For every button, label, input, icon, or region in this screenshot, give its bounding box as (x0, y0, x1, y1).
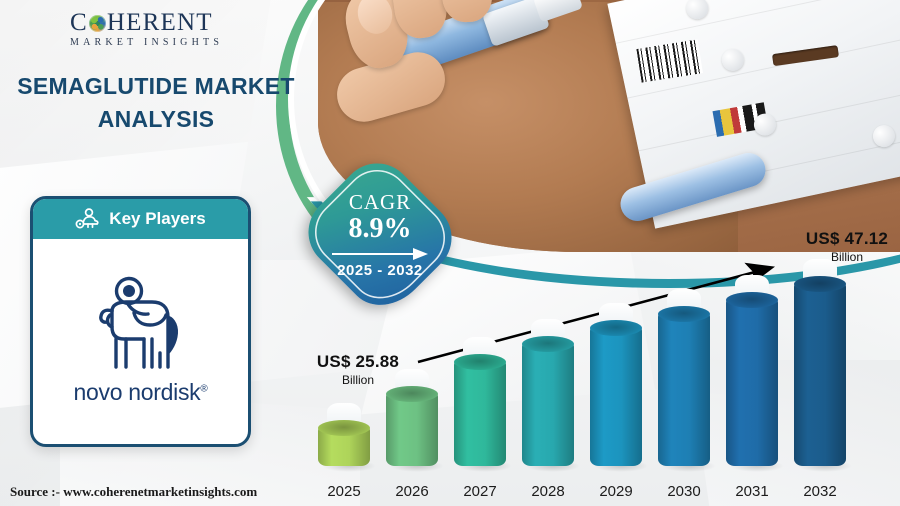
company-name: novo nordisk® (74, 379, 208, 406)
list-item: novo nordisk® (66, 275, 216, 406)
bar-rim (658, 306, 710, 322)
bar-rim (726, 292, 778, 308)
key-players-header: Key Players (33, 199, 248, 239)
bar-rim (522, 336, 574, 352)
source-footer: Source :- www.coherenetmarketinsights.co… (10, 484, 257, 500)
bar-rim (794, 276, 846, 292)
blister-dot (684, 0, 710, 21)
company-name-text: novo nordisk (74, 379, 201, 405)
bar-body (794, 280, 846, 466)
barcode-icon (636, 39, 703, 82)
bar-2026 (386, 380, 438, 466)
logo-wordmark: C HERENT (70, 10, 250, 36)
registered-mark: ® (200, 383, 207, 394)
key-players-body: novo nordisk® (33, 239, 248, 441)
globe-icon (89, 15, 106, 32)
end-value: US$ 47.12 (792, 229, 900, 249)
logo-word-part2: HERENT (107, 10, 213, 36)
bar-chart: US$ 25.88 Billion US$ 47.12 Billion 2025… (300, 262, 900, 506)
axis-label-2030: 2030 (658, 483, 710, 500)
key-players-card: Key Players (30, 196, 251, 447)
right-arrow-icon (332, 248, 428, 260)
bar-rim (386, 386, 438, 402)
axis-label-2027: 2027 (454, 483, 506, 500)
axis-label-2025: 2025 (318, 483, 370, 500)
bar-2025 (318, 414, 370, 466)
logo-word-part1: C (70, 10, 88, 36)
bar-2032 (794, 270, 846, 466)
key-person-icon (75, 208, 101, 230)
start-value: US$ 25.88 (298, 352, 418, 372)
axis-label-2029: 2029 (590, 483, 642, 500)
cagr-value: 8.9% (349, 213, 412, 245)
bar-body (454, 358, 506, 466)
bar-rim (590, 320, 642, 336)
key-players-title: Key Players (109, 209, 205, 229)
bar-2030 (658, 300, 710, 466)
logo-tagline: MARKET INSIGHTS (70, 37, 250, 48)
bar-body (658, 310, 710, 466)
axis-label-2026: 2026 (386, 483, 438, 500)
bar-2031 (726, 286, 778, 466)
infographic-poster: C HERENT MARKET INSIGHTS SEMAGLUTIDE MAR… (0, 0, 900, 506)
cagr-label: CAGR (349, 191, 411, 213)
apis-bull-icon (82, 275, 200, 383)
bar-2027 (454, 348, 506, 466)
bar-2028 (522, 330, 574, 466)
bar-rim (454, 354, 506, 370)
end-value-callout: US$ 47.12 Billion (792, 229, 900, 264)
bar-2029 (590, 314, 642, 466)
company-logo: C HERENT MARKET INSIGHTS (70, 10, 250, 52)
blister-dot (871, 123, 897, 149)
bar-body (726, 296, 778, 466)
axis-label-2032: 2032 (794, 483, 846, 500)
axis-label-2031: 2031 (726, 483, 778, 500)
bar-body (590, 324, 642, 466)
axis-label-2028: 2028 (522, 483, 574, 500)
page-title: SEMAGLUTIDE MARKET ANALYSIS (0, 70, 312, 136)
blister-dot (720, 47, 746, 73)
title-line-1: SEMAGLUTIDE MARKET (0, 70, 312, 103)
bar-body (522, 340, 574, 466)
carton-slot (772, 45, 839, 66)
title-line-2: ANALYSIS (0, 103, 312, 136)
bar-rim (318, 420, 370, 436)
